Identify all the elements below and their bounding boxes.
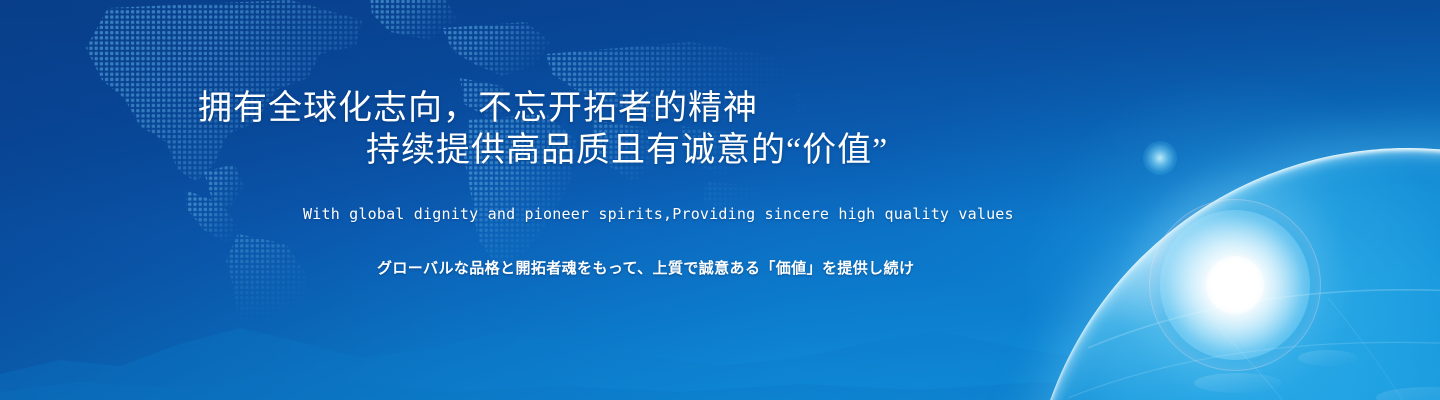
- subtitle-japanese: グローバルな品格と開拓者魂をもって、上質で誠意ある「価値」を提供し続け: [377, 261, 914, 276]
- subtitle-english: With global dignity and pioneer spirits,…: [303, 207, 1014, 222]
- hero-banner: 拥有全球化志向，不忘开拓者的精神 持续提供高品质且有诚意的“价值” With g…: [0, 0, 1440, 400]
- banner-copy: 拥有全球化志向，不忘开拓者的精神 持续提供高品质且有诚意的“价值” With g…: [0, 0, 1440, 400]
- headline-line-1: 拥有全球化志向，不忘开拓者的精神: [198, 92, 758, 126]
- headline-line-2: 持续提供高品质且有诚意的“价值”: [366, 134, 888, 168]
